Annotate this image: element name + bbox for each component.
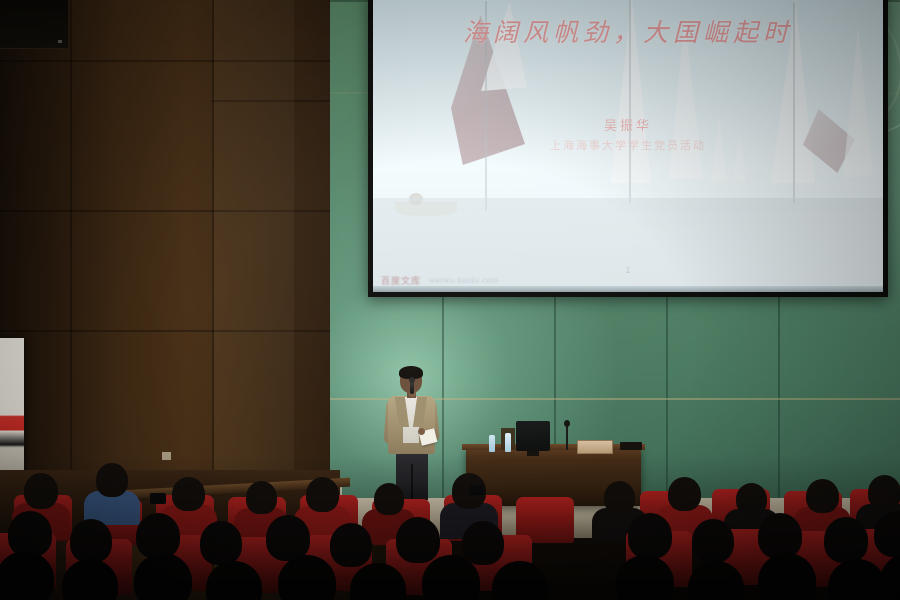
audience-member-head xyxy=(736,483,767,515)
audience-member-head xyxy=(868,475,900,510)
audience-member-head xyxy=(396,517,440,563)
audience-member-head xyxy=(246,481,277,514)
audience-member-head xyxy=(134,553,192,600)
slide-organization: 上海海事大学学生党员活动 xyxy=(550,137,706,153)
water-bottle xyxy=(505,433,511,452)
audience-member-head xyxy=(306,477,339,512)
projected-slide: 海阔风帆劲，大国崛起时 吴振华 上海海事大学学生党员活动 1 百度文库 wenk… xyxy=(373,0,883,292)
audience-member-head xyxy=(96,463,128,497)
auditorium-photo: 海阔风帆劲，大国崛起时 吴振华 上海海事大学学生党员活动 1 百度文库 wenk… xyxy=(0,0,900,600)
audience-member-head xyxy=(330,523,372,567)
audience-member-head xyxy=(24,473,58,509)
audience-member-head xyxy=(70,519,112,563)
audience-member-head xyxy=(692,519,734,563)
audience-member-head xyxy=(200,521,242,565)
slide-page-number: 1 xyxy=(625,265,630,275)
audience-member-head xyxy=(172,477,205,511)
equipment-box xyxy=(577,440,613,454)
audience-member-head xyxy=(8,511,52,557)
slide-title: 海阔风帆劲，大国崛起时 xyxy=(373,13,883,49)
dark-device xyxy=(620,442,642,450)
handheld-microphone xyxy=(410,381,414,394)
watermark-url-text: wenku.baidu.com xyxy=(429,276,499,285)
audience-member-head xyxy=(136,513,180,559)
audience-member-head xyxy=(758,513,802,559)
slide-bottom-bar xyxy=(373,286,883,292)
audience-member-head xyxy=(806,479,839,513)
water-bottle xyxy=(489,435,495,452)
audience-member-head xyxy=(668,477,701,511)
audience-member-head xyxy=(824,517,868,563)
audience-member-head xyxy=(266,515,310,561)
audience-member-head xyxy=(628,513,672,559)
audience-member-head xyxy=(758,553,816,600)
slide-author: 吴振华 xyxy=(604,115,652,134)
computer-monitor xyxy=(516,421,550,451)
camera xyxy=(470,485,484,495)
projection-screen-frame: 海阔风帆劲，大国崛起时 吴振华 上海海事大学学生党员活动 1 百度文库 wenk… xyxy=(368,0,888,297)
audience-member-head xyxy=(462,521,504,565)
camera xyxy=(150,493,166,504)
audience-seating xyxy=(0,455,900,600)
gooseneck-microphone xyxy=(566,424,568,450)
audience-member-head xyxy=(604,481,635,514)
audience-member-head xyxy=(374,483,404,515)
ceiling-loudspeaker xyxy=(0,0,68,49)
audience-member-head xyxy=(492,561,548,600)
